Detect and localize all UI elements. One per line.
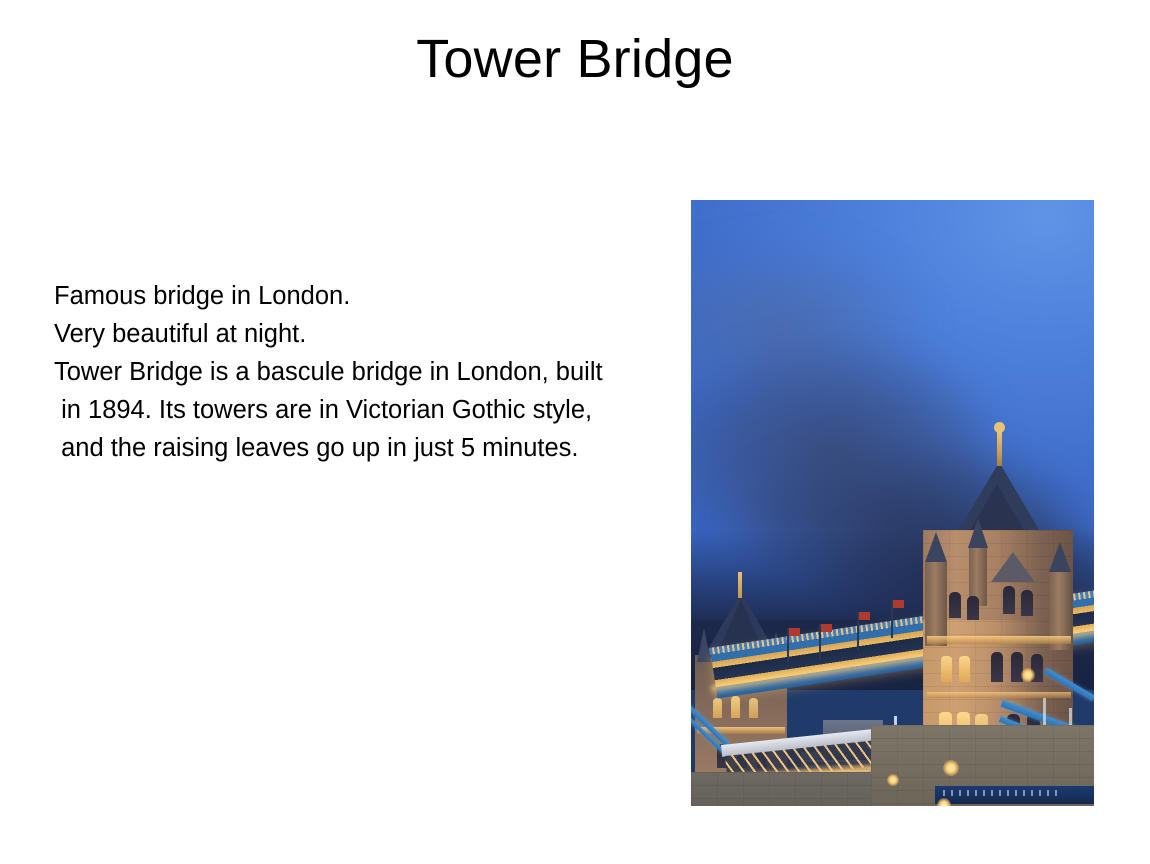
- turret-right-cap: [1049, 542, 1071, 572]
- near-tower-window-5: [941, 656, 952, 682]
- tower-bridge-image: [691, 200, 1094, 806]
- near-tower-window-2: [967, 596, 979, 620]
- far-tower-window-1: [713, 698, 722, 718]
- body-line-5: and the raising leaves go up in just 5 m…: [54, 429, 694, 467]
- near-tower-finial: [994, 422, 1005, 433]
- near-tower-window-3: [1003, 586, 1015, 614]
- body-line-3: Tower Bridge is a bascule bridge in Lond…: [54, 353, 694, 391]
- near-tower-window-4: [1021, 590, 1033, 616]
- near-tower-window-7: [991, 652, 1003, 682]
- far-tower-window-2: [731, 696, 740, 718]
- near-tower-cornice-upper: [927, 636, 1071, 644]
- far-tower-window-3: [749, 698, 758, 718]
- near-tower-window-1: [949, 592, 961, 618]
- turret-left-cap: [925, 532, 947, 562]
- lamp-3: [937, 798, 951, 806]
- lamp-6: [887, 774, 899, 786]
- near-tower-gable: [991, 552, 1035, 582]
- left-pier-masonry: [691, 772, 871, 806]
- turret-mid-cap: [968, 518, 988, 548]
- turret-left: [925, 562, 947, 646]
- near-tower-spire: [997, 428, 1002, 466]
- lamp-4: [943, 760, 959, 776]
- near-tower-cornice-mid: [927, 692, 1071, 698]
- flag-4: [893, 600, 904, 608]
- far-tower-pinnacle-left: [697, 628, 711, 662]
- flag-3: [859, 612, 870, 620]
- body-text-block: Famous bridge in London. Very beautiful …: [54, 277, 694, 467]
- body-line-4: in 1894. Its towers are in Victorian Got…: [54, 391, 694, 429]
- far-tower-spire: [738, 572, 742, 598]
- near-tower-window-6: [959, 656, 970, 682]
- body-line-2: Very beautiful at night.: [54, 315, 694, 353]
- blue-railing-detail: [943, 790, 1063, 796]
- lamp-5: [1021, 668, 1035, 682]
- page-title: Tower Bridge: [0, 26, 1150, 92]
- flag-1: [789, 628, 800, 636]
- flag-2: [821, 624, 832, 632]
- body-line-1: Famous bridge in London.: [54, 277, 694, 315]
